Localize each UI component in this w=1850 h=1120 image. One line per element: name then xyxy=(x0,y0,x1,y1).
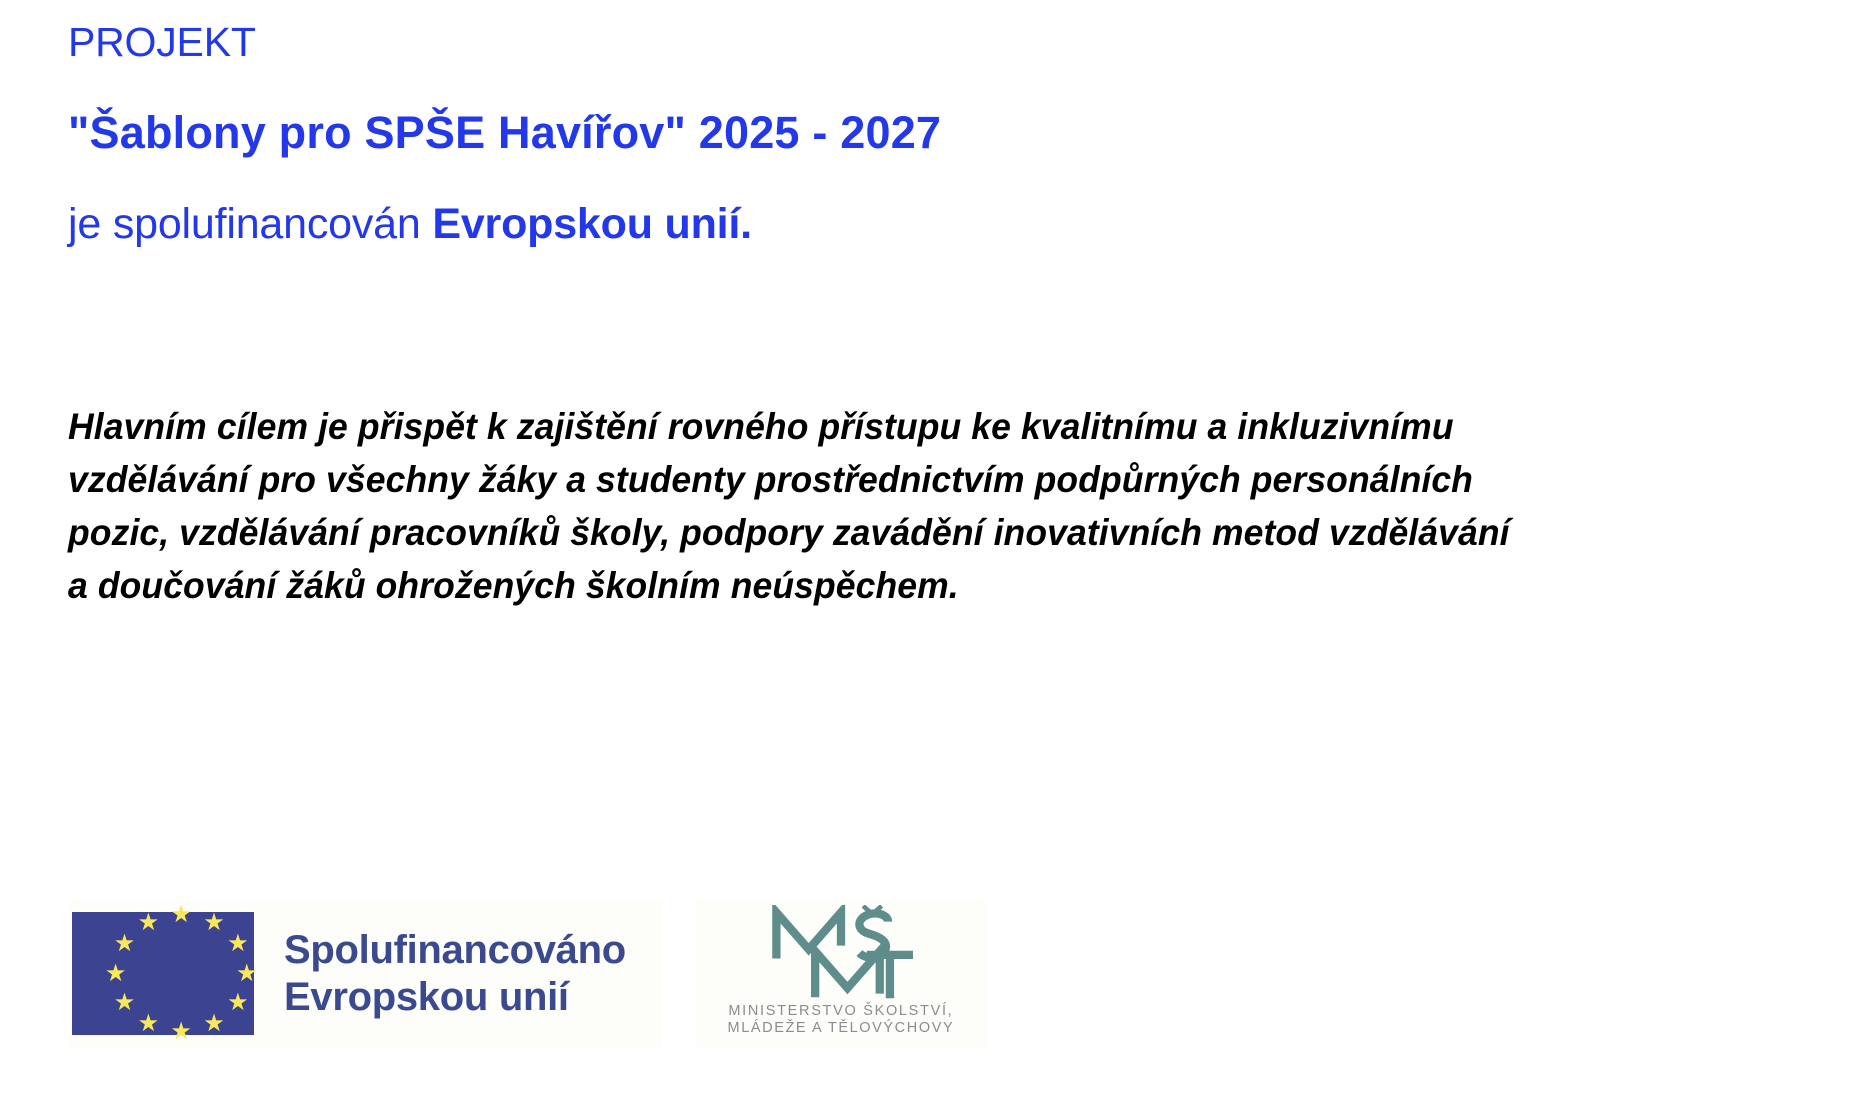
msmt-caption-line1: MINISTERSTVO ŠKOLSTVÍ, xyxy=(728,1003,955,1020)
heading-project-title: "Šablony pro SPŠE Havířov" 2025 - 2027 xyxy=(68,105,1768,161)
msmt-caption: MINISTERSTVO ŠKOLSTVÍ, MLÁDEŽE A TĚLOVÝC… xyxy=(728,1003,955,1037)
funding-line-bold-part: Evropskou unií. xyxy=(432,200,752,248)
heading-block: PROJEKT "Šablony pro SPŠE Havířov" 2025 … xyxy=(68,16,1768,252)
heading-projekt-label: PROJEKT xyxy=(68,16,1768,68)
logo-strip: ★★★★★★★★★★★★ Spolufinancováno Evropskou … xyxy=(70,900,986,1047)
eu-logo-text-line1: Spolufinancováno xyxy=(284,927,626,974)
msmt-logo: MINISTERSTVO ŠKOLSTVÍ, MLÁDEŽE A TĚLOVÝC… xyxy=(696,900,986,1047)
paragraph-line: vzdělávání pro všechny žáky a studenty p… xyxy=(68,453,1441,506)
paragraph-line: a doučování žáků ohrožených školním neús… xyxy=(68,559,1441,612)
eu-logo-text: Spolufinancováno Evropskou unií xyxy=(284,927,662,1021)
eu-flag-icon: ★★★★★★★★★★★★ xyxy=(72,912,254,1035)
funding-line-regular-part: je spolufinancován xyxy=(68,200,432,248)
msmt-monogram-icon xyxy=(767,905,915,1001)
eu-logo-text-line2: Evropskou unií xyxy=(284,974,626,1021)
project-goal-paragraph: Hlavním cílem je přispět k zajištění rov… xyxy=(68,400,1498,612)
eu-cofunded-logo: ★★★★★★★★★★★★ Spolufinancováno Evropskou … xyxy=(70,900,662,1047)
paragraph-line: Hlavním cílem je přispět k zajištění rov… xyxy=(68,400,1441,453)
msmt-caption-line2: MLÁDEŽE A TĚLOVÝCHOVY xyxy=(728,1020,955,1037)
project-info-page: PROJEKT "Šablony pro SPŠE Havířov" 2025 … xyxy=(0,0,1850,1120)
heading-funding-line: je spolufinancován Evropskou unií. xyxy=(68,197,1768,252)
paragraph-line: pozic, vzdělávání pracovníků školy, podp… xyxy=(68,506,1441,559)
